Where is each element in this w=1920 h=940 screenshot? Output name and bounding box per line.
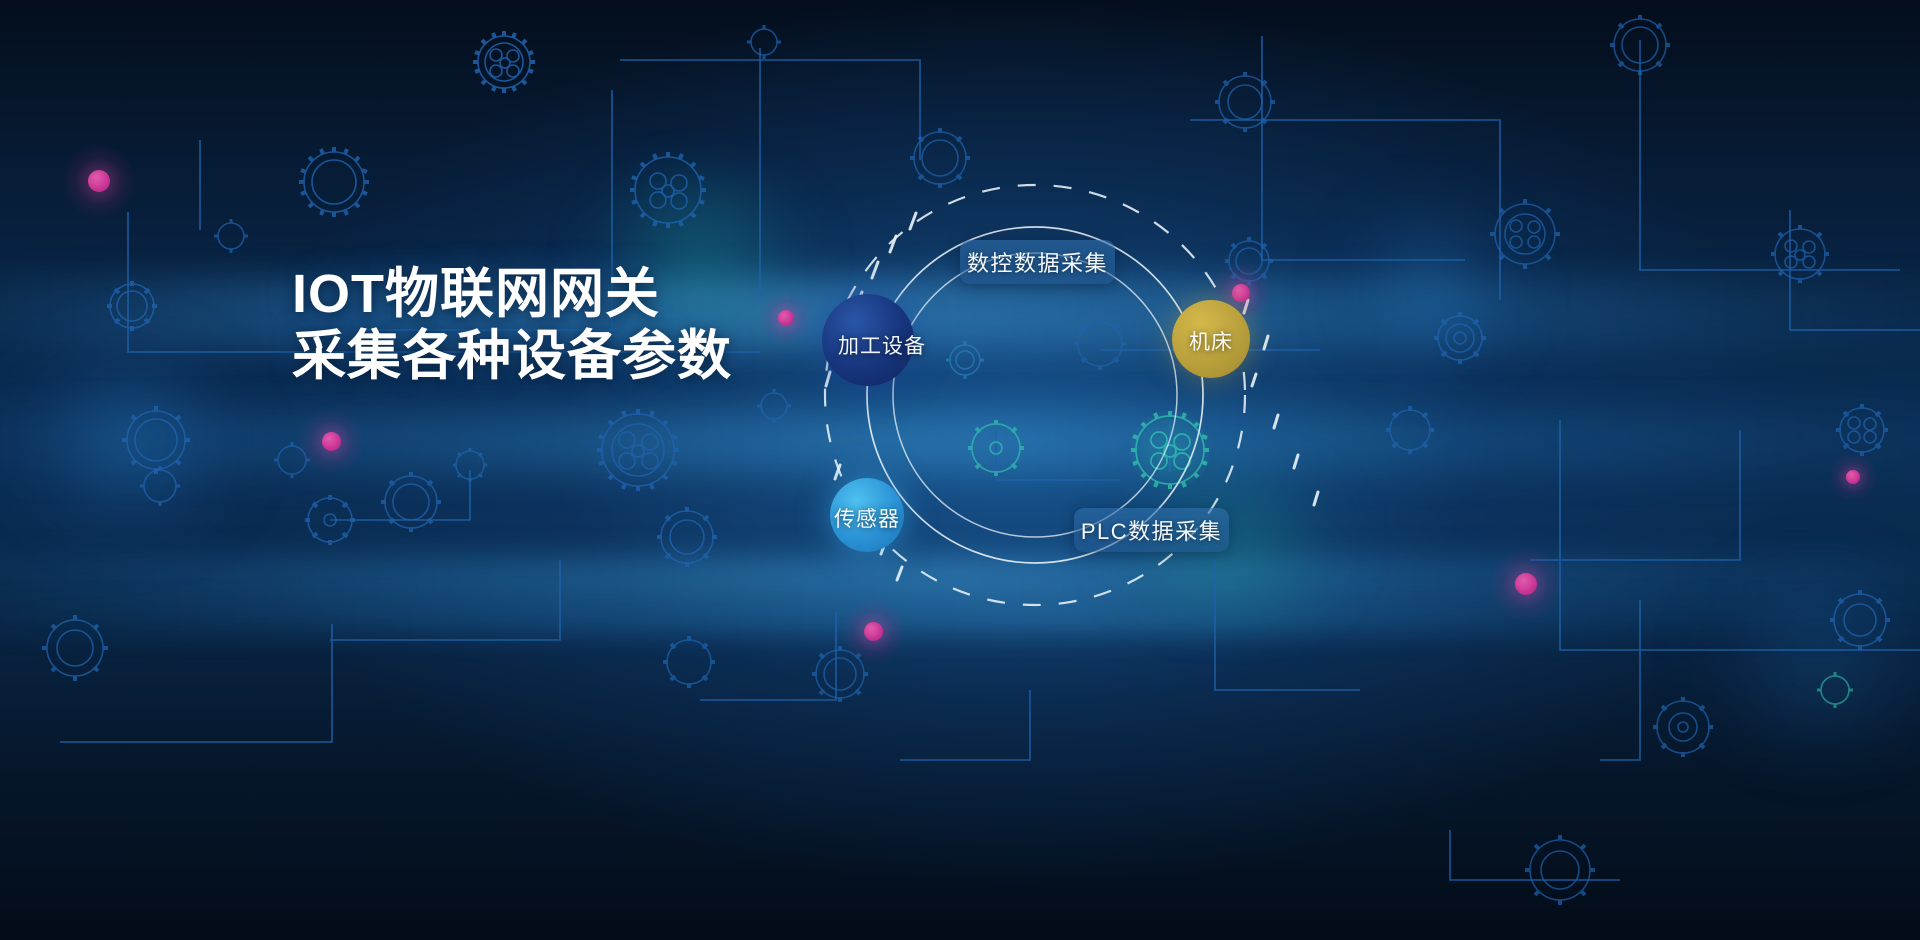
glow-dot-icon xyxy=(1846,470,1860,484)
gear-icon xyxy=(140,466,180,506)
iot-gateway-banner: IOT物联网网关 采集各种设备参数 加工设备 传感器 机床 数控数据采集 PLC… xyxy=(0,0,1920,940)
gear-icon xyxy=(107,281,157,331)
diagram-node-label-processing-equipment: 加工设备 xyxy=(827,330,937,360)
glow-dot-icon xyxy=(1232,284,1250,302)
gear-icon xyxy=(1215,72,1275,132)
pill-label-plc: PLC数据采集 xyxy=(1081,514,1222,546)
headline-line-1: IOT物联网网关 xyxy=(292,263,912,325)
pill-label-cnc: 数控数据采集 xyxy=(967,246,1108,278)
glow-dot-icon xyxy=(322,432,341,451)
gear-icon xyxy=(1434,312,1486,364)
gear-icon xyxy=(122,406,190,474)
page-title: IOT物联网网关 采集各种设备参数 xyxy=(292,263,912,387)
gear-icon xyxy=(663,636,715,688)
gear-icon xyxy=(1525,835,1595,905)
gear-icon xyxy=(1386,406,1434,454)
gear-icon xyxy=(747,25,781,59)
gear-icon xyxy=(597,409,679,491)
gear-icon xyxy=(910,128,970,188)
gear-icon xyxy=(630,152,706,228)
gear-icon xyxy=(381,472,441,532)
diagram-node-label-machine-tool: 机床 xyxy=(1156,326,1266,356)
decorative-artwork xyxy=(0,0,1920,940)
teal-gear-highlight xyxy=(1130,410,1210,490)
glow-dot-icon xyxy=(88,170,110,192)
diagram-pill-cnc-data-collection[interactable]: 数控数据采集 xyxy=(960,240,1115,284)
glow-dot-icon xyxy=(1515,573,1537,595)
gear-icon xyxy=(1653,697,1713,757)
gear-icon xyxy=(214,219,248,253)
gear-icon xyxy=(657,507,717,567)
gear-icon xyxy=(757,389,791,423)
gear-icon xyxy=(42,615,108,681)
glow-dot-icon xyxy=(864,622,883,641)
gear-icon xyxy=(1771,225,1829,283)
gear-icon xyxy=(1817,672,1853,708)
gear-icon xyxy=(1830,590,1890,650)
diagram-node-label-sensor: 传感器 xyxy=(812,503,922,533)
gear-icon xyxy=(1836,404,1888,456)
gear-icon xyxy=(1074,318,1126,370)
gear-icon xyxy=(299,147,369,217)
diagram-pill-plc-data-collection[interactable]: PLC数据采集 xyxy=(1074,508,1229,552)
headline-line-2: 采集各种设备参数 xyxy=(292,325,912,387)
ring-inner-solid xyxy=(893,253,1177,537)
gear-icon xyxy=(946,341,984,379)
gear-icon xyxy=(473,31,535,93)
